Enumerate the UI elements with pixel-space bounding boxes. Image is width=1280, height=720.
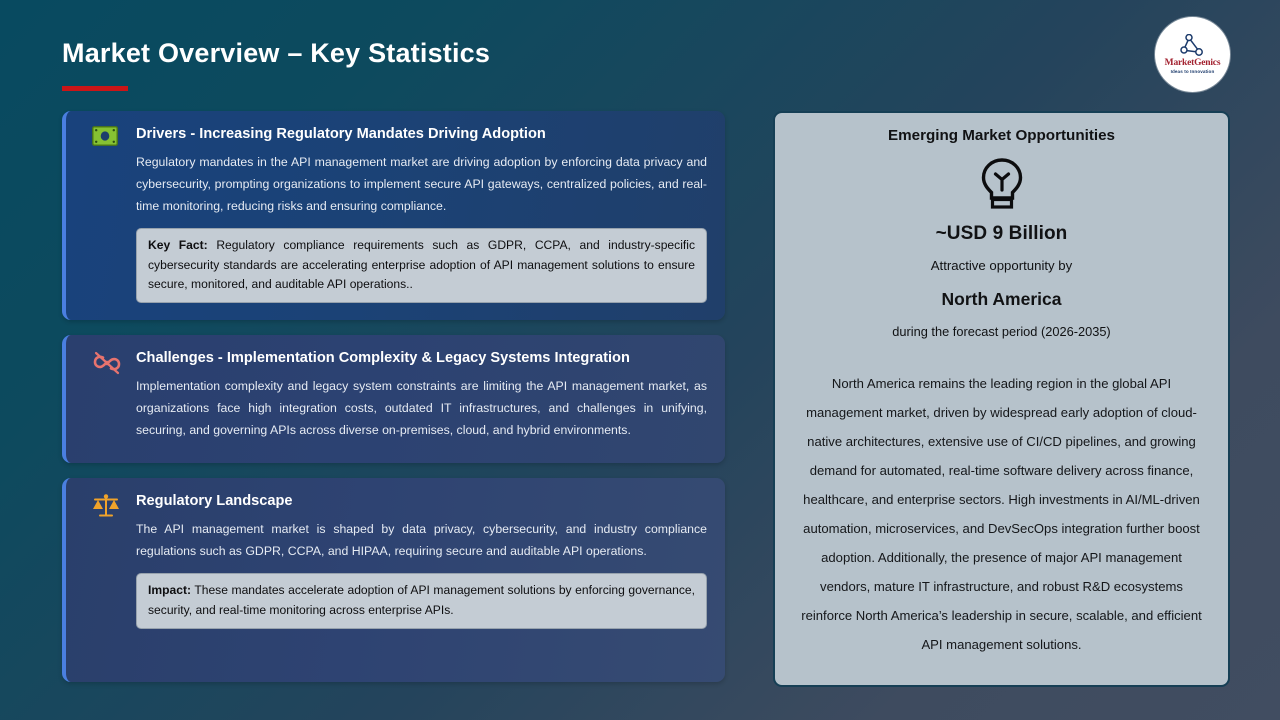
forecast-period: during the forecast period (2026-2035) [799,324,1204,339]
insight-card-challenges: Challenges - Implementation Complexity &… [62,335,725,463]
balance-scale-icon [92,493,126,519]
emerging-opportunities-panel: Emerging Market Opportunities ~USD 9 Bil… [773,111,1230,687]
broken-link-icon [92,350,126,376]
key-fact-text: Regulatory compliance requirements such … [148,238,695,291]
impact-text: These mandates accelerate adoption of AP… [148,583,695,616]
title-accent-underline [62,86,128,91]
key-fact-label: Key Fact: [148,238,208,252]
card-title: Challenges - Implementation Complexity &… [136,349,707,367]
impact-box: Impact: These mandates accelerate adopti… [136,573,707,629]
key-fact-box: Key Fact: Regulatory compliance requirem… [136,228,707,303]
insight-card-drivers: Drivers - Increasing Regulatory Mandates… [62,111,725,320]
opportunity-region: North America [799,289,1204,310]
insight-card-regulatory-landscape: Regulatory Landscape The API management … [62,478,725,682]
card-title: Drivers - Increasing Regulatory Mandates… [136,125,707,143]
lightbulb-icon [979,158,1025,210]
card-description: Regulatory mandates in the API managemen… [136,151,707,217]
panel-title: Emerging Market Opportunities [799,126,1204,146]
money-banknote-icon [92,126,126,146]
insight-cards-column: Drivers - Increasing Regulatory Mandates… [62,111,725,682]
card-title: Regulatory Landscape [136,492,707,510]
logo-tagline: Ideas to Innovation [1171,69,1215,75]
brand-logo: MarketGenics Ideas to Innovation [1155,17,1230,92]
page-title: Market Overview – Key Statistics [62,38,490,69]
card-description: The API management market is shaped by d… [136,518,707,562]
logo-name: MarketGenics [1165,59,1221,69]
network-node-icon [1180,34,1206,58]
opportunity-subtitle: Attractive opportunity by [799,258,1204,273]
card-description: Implementation complexity and legacy sys… [136,375,707,441]
opportunity-paragraph: North America remains the leading region… [799,369,1204,659]
opportunity-value: ~USD 9 Billion [799,223,1204,245]
impact-label: Impact: [148,583,191,597]
